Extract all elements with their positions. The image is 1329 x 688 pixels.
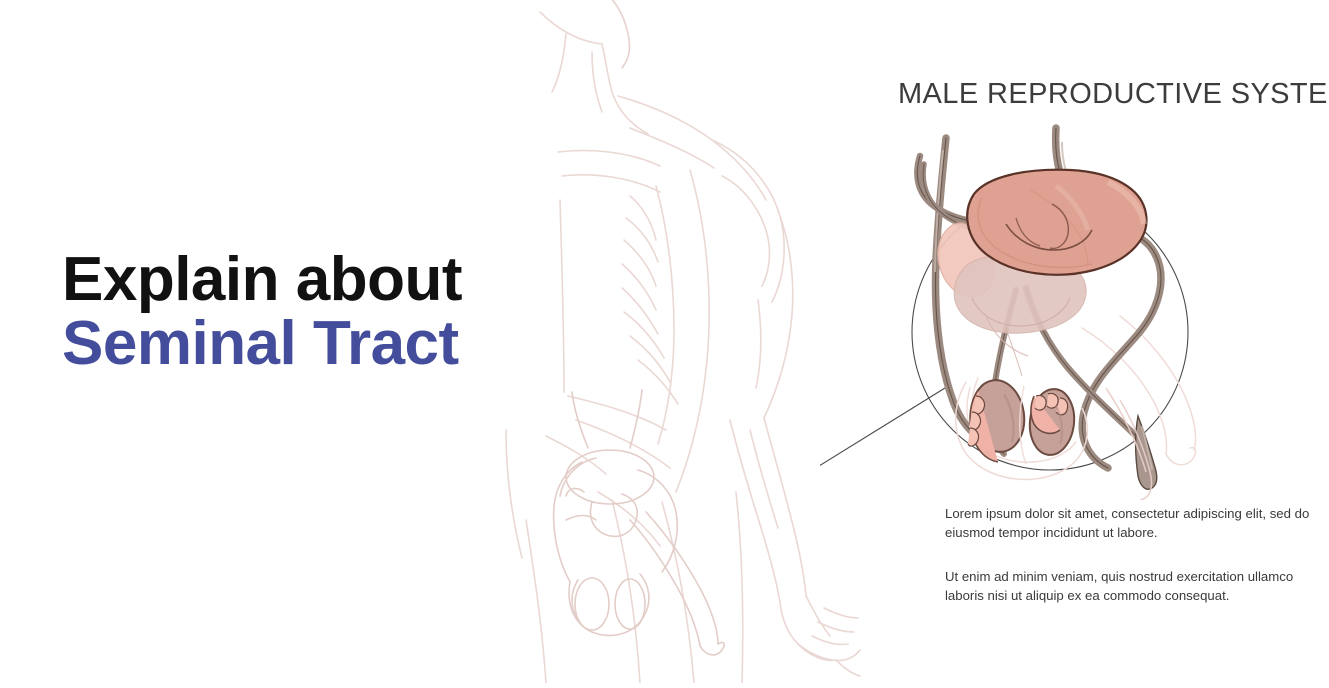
page-title-line2: Seminal Tract — [62, 311, 682, 376]
caption-block: Lorem ipsum dolor sit amet, consectetur … — [945, 505, 1315, 606]
diagram-panel: MALE REPRODUCTIVE SYSTEM — [880, 0, 1329, 683]
page-title-line1: Explain about — [62, 248, 682, 311]
body-sketch-pelvic-organs — [554, 390, 724, 655]
caption-paragraph-2: Ut enim ad minim veniam, quis nostrud ex… — [945, 568, 1315, 605]
caption-paragraph-1: Lorem ipsum dolor sit amet, consectetur … — [945, 505, 1315, 542]
anatomy-diagram — [820, 120, 1280, 500]
diagram-panel-title: MALE REPRODUCTIVE SYSTEM — [898, 78, 1329, 111]
anatomy-diagram-svg — [820, 120, 1280, 500]
leader-line — [820, 388, 945, 500]
headline-block: Explain about Seminal Tract — [62, 248, 682, 376]
